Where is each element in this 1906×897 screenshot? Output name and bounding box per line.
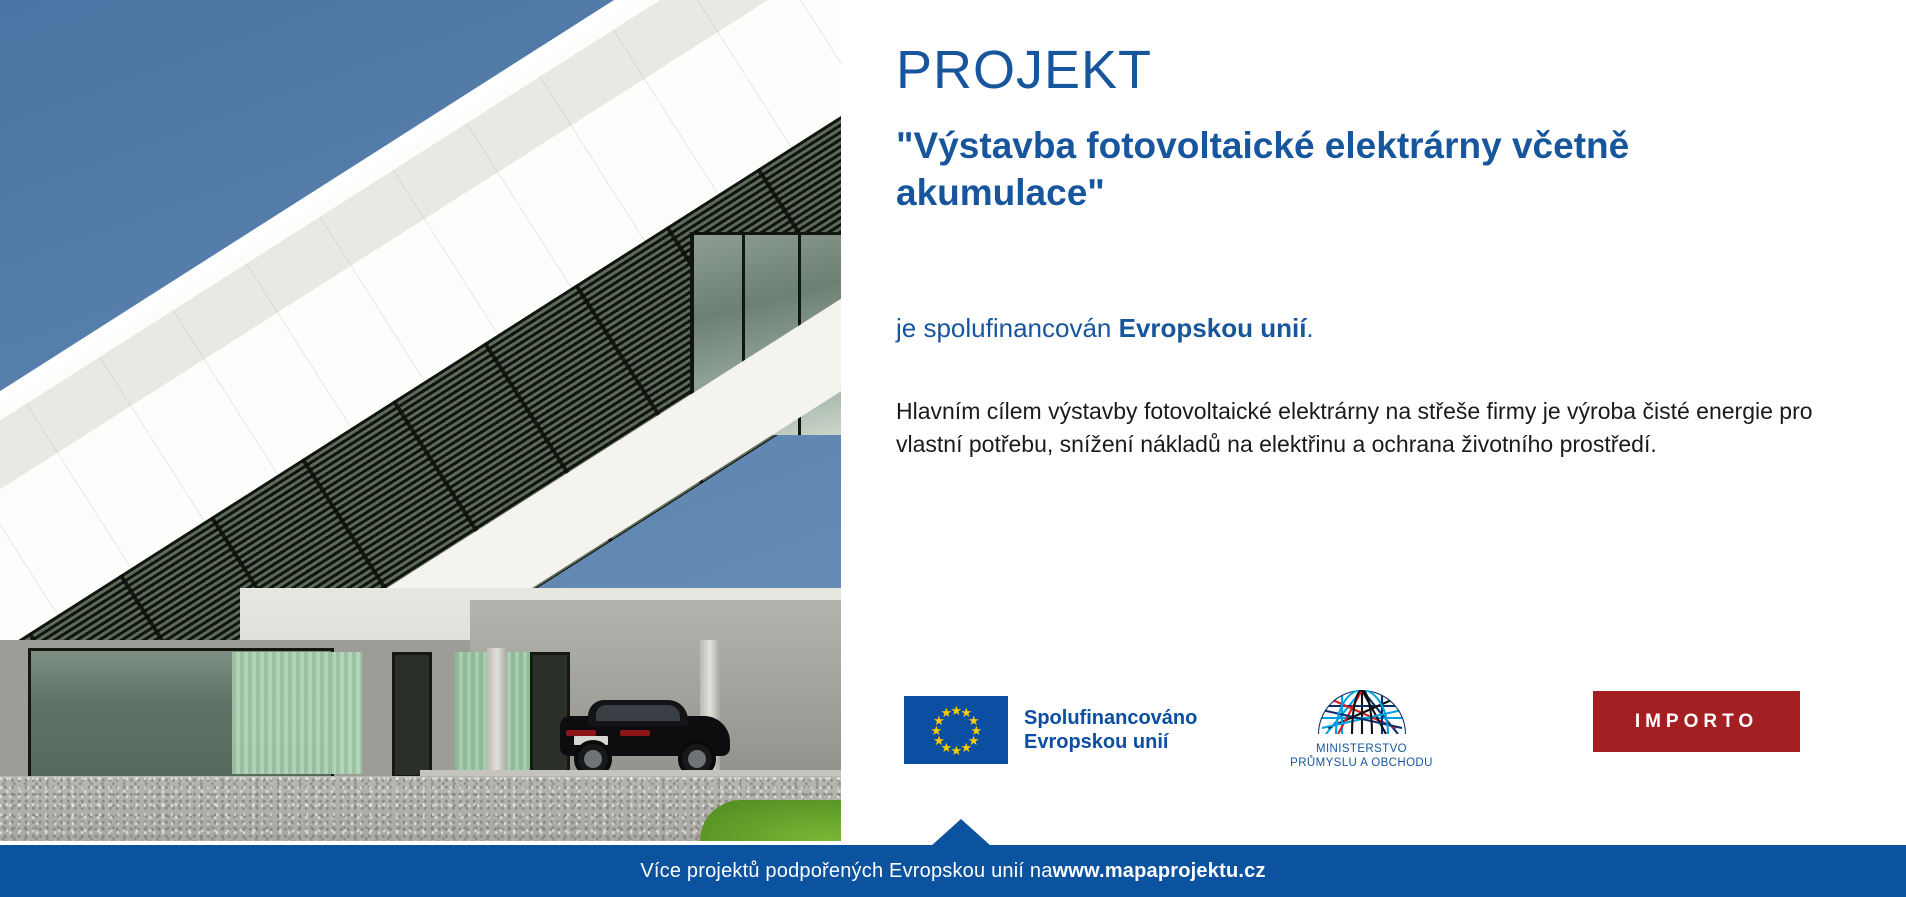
footer-text: Více projektů podpořených Evropskou unií…: [0, 845, 1906, 897]
ministry-line1: MINISTERSTVO: [1274, 743, 1449, 757]
eu-funding-logo: ★★★★★★★★★★★★ Spolufinancováno Evropskou …: [904, 696, 1197, 764]
globe-network-icon: [1316, 688, 1408, 736]
parked-car: [560, 700, 730, 762]
eu-logo-line1: Spolufinancováno: [1024, 706, 1197, 730]
ministry-logo: MINISTERSTVO PRŮMYSLU A OBCHODU: [1274, 688, 1449, 770]
importo-logo-button[interactable]: IMPORTO: [1593, 691, 1800, 752]
funding-statement: je spolufinancován Evropskou unií.: [896, 313, 1314, 344]
ministry-line2: PRŮMYSLU A OBCHODU: [1274, 757, 1449, 771]
eu-star-icon: ★: [951, 745, 962, 756]
kicker-label: PROJEKT: [896, 43, 1152, 97]
text-panel: PROJEKT "Výstavba fotovoltaické elektrár…: [896, 0, 1906, 841]
footer-notch-arrow: [931, 819, 991, 846]
eu-star-icon: ★: [941, 707, 952, 718]
green-curtain-left: [232, 652, 362, 774]
eu-flag-icon: ★★★★★★★★★★★★: [904, 696, 1008, 764]
building-photo: [0, 0, 841, 841]
project-description: Hlavním cílem výstavby fotovoltaické ele…: [896, 395, 1856, 462]
logo-row: ★★★★★★★★★★★★ Spolufinancováno Evropskou …: [896, 688, 1906, 778]
funding-strong: Evropskou unií: [1119, 313, 1307, 343]
footer-prefix: Více projektů podpořených Evropskou unií…: [640, 860, 1052, 883]
eu-logo-line2: Evropskou unií: [1024, 730, 1197, 754]
funding-prefix: je spolufinancován: [896, 313, 1119, 343]
grass-patch: [700, 800, 841, 841]
ministry-logo-text: MINISTERSTVO PRŮMYSLU A OBCHODU: [1274, 743, 1449, 770]
project-title: "Výstavba fotovoltaické elektrárny včetn…: [896, 122, 1846, 217]
funding-suffix: .: [1306, 313, 1313, 343]
eu-logo-text: Spolufinancováno Evropskou unií: [1024, 706, 1197, 754]
eu-star-icon: ★: [961, 742, 972, 753]
entrance-door-left: [392, 652, 432, 778]
project-banner: PROJEKT "Výstavba fotovoltaické elektrár…: [0, 0, 1906, 897]
footer-url[interactable]: www.mapaprojektu.cz: [1053, 860, 1266, 883]
